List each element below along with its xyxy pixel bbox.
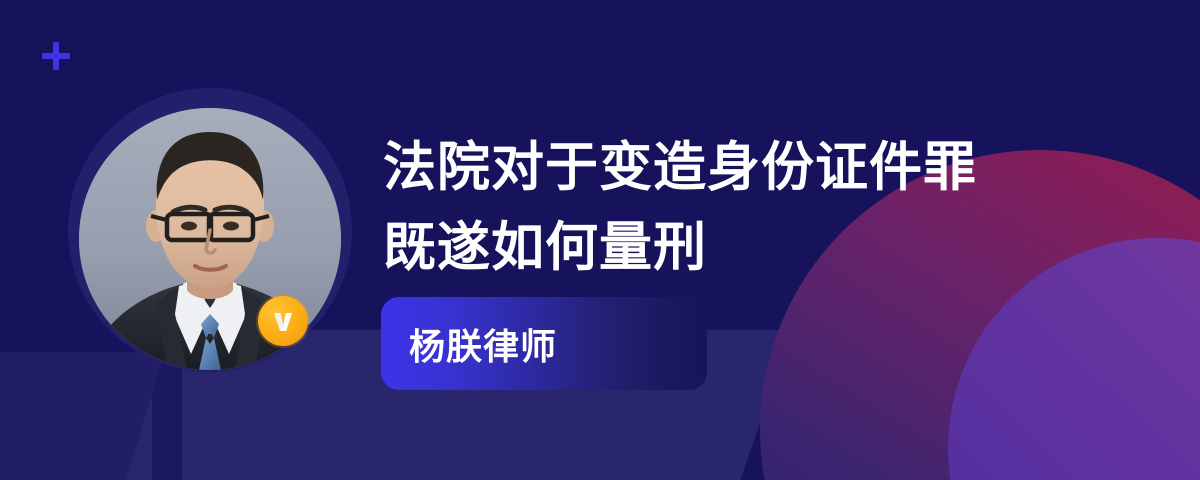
plus-icon-vertical-bar bbox=[53, 42, 59, 70]
author-name-pill[interactable]: 杨朕律师 bbox=[381, 297, 707, 390]
verified-badge-icon bbox=[258, 296, 308, 346]
avatar bbox=[68, 88, 352, 372]
page-title: 法院对于变造身份证件罪 既遂如何量刑 bbox=[383, 128, 1083, 288]
promo-banner: 法院对于变造身份证件罪 既遂如何量刑 杨朕律师 bbox=[0, 0, 1200, 480]
plus-icon bbox=[42, 42, 70, 70]
author-name-label: 杨朕律师 bbox=[381, 318, 557, 370]
